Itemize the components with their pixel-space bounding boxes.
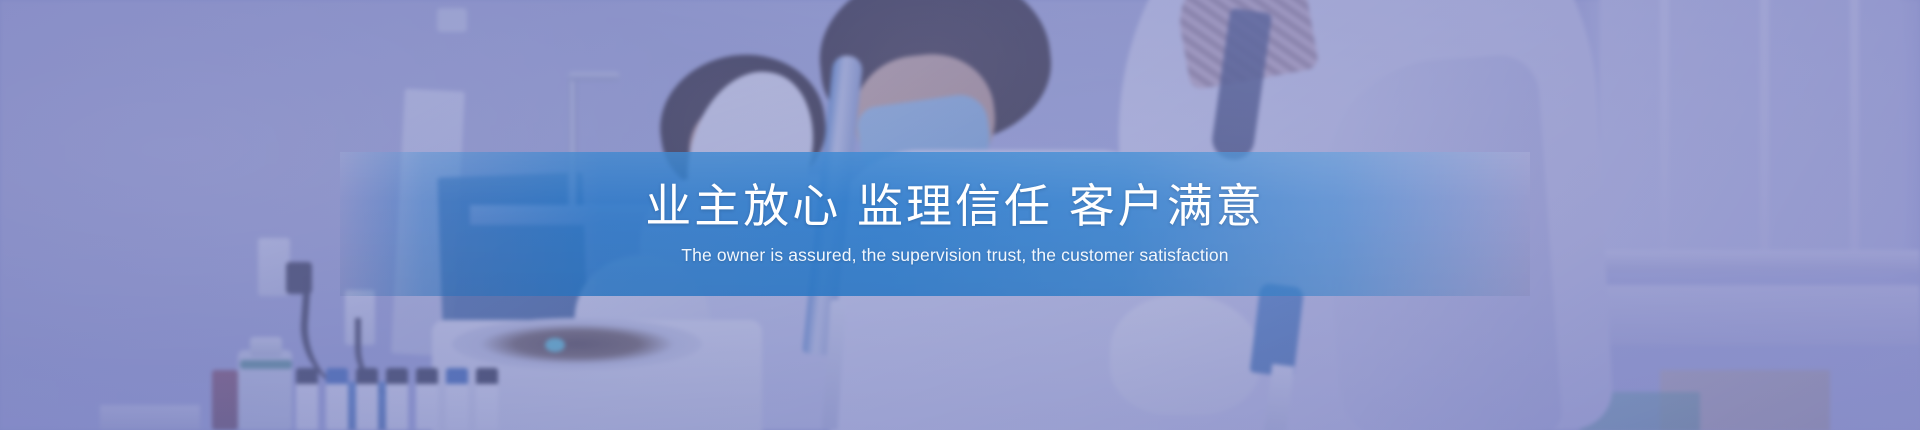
banner-headline: 业主放心 监理信任 客户满意 [645, 182, 1265, 230]
hero-banner: 业主放心 监理信任 客户满意 The owner is assured, the… [0, 0, 1920, 430]
banner-subheadline: The owner is assured, the supervision tr… [681, 245, 1228, 266]
headline-block: 业主放心 监理信任 客户满意 The owner is assured, the… [340, 152, 1530, 296]
